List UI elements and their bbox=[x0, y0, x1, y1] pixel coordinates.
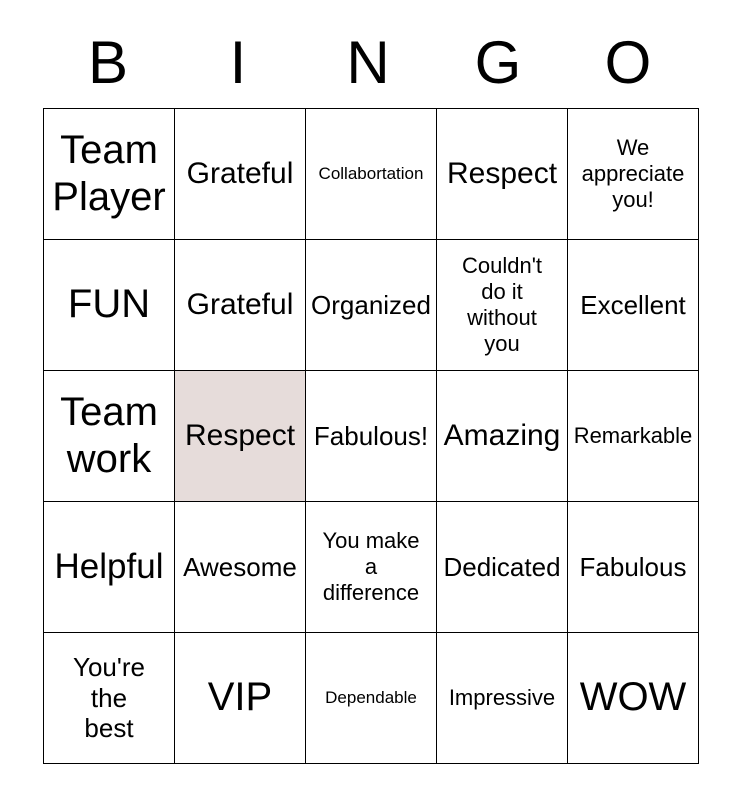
bingo-cell-label: Grateful bbox=[175, 156, 305, 191]
bingo-cell-r5-c3[interactable]: Dependable bbox=[306, 633, 437, 764]
bingo-cell-label: Organized bbox=[306, 290, 436, 321]
bingo-cell-r2-c3[interactable]: Organized bbox=[306, 240, 437, 371]
bingo-cell-r3-c2-marked[interactable]: Respect bbox=[175, 371, 306, 502]
bingo-cell-label: Team Player bbox=[44, 127, 174, 221]
bingo-row: HelpfulAwesomeYou make a differenceDedic… bbox=[44, 502, 699, 633]
bingo-row: Team workRespectFabulous!AmazingRemarkab… bbox=[44, 371, 699, 502]
bingo-cell-label: Respect bbox=[437, 156, 567, 191]
bingo-cell-r5-c2[interactable]: VIP bbox=[175, 633, 306, 764]
bingo-cell-label: Collabortation bbox=[306, 164, 436, 184]
bingo-cell-r5-c4[interactable]: Impressive bbox=[437, 633, 568, 764]
bingo-grid: Team PlayerGratefulCollabortationRespect… bbox=[43, 108, 699, 764]
bingo-cell-label: Grateful bbox=[175, 287, 305, 322]
bingo-cell-r2-c1[interactable]: FUN bbox=[44, 240, 175, 371]
bingo-grid-body: Team PlayerGratefulCollabortationRespect… bbox=[44, 109, 699, 764]
bingo-cell-label: You're the best bbox=[44, 652, 174, 744]
bingo-cell-label: Impressive bbox=[437, 685, 567, 711]
bingo-cell-r4-c3[interactable]: You make a difference bbox=[306, 502, 437, 633]
bingo-cell-label: You make a difference bbox=[306, 528, 436, 606]
bingo-cell-label: Excellent bbox=[568, 290, 698, 321]
bingo-cell-r3-c4[interactable]: Amazing bbox=[437, 371, 568, 502]
bingo-header-row: BINGO bbox=[43, 18, 693, 108]
bingo-cell-r5-c1[interactable]: You're the best bbox=[44, 633, 175, 764]
bingo-cell-r3-c3[interactable]: Fabulous! bbox=[306, 371, 437, 502]
bingo-cell-label: Dedicated bbox=[437, 552, 567, 583]
bingo-cell-label: VIP bbox=[175, 674, 305, 721]
bingo-cell-r1-c1[interactable]: Team Player bbox=[44, 109, 175, 240]
bingo-cell-r4-c4[interactable]: Dedicated bbox=[437, 502, 568, 633]
bingo-cell-r1-c4[interactable]: Respect bbox=[437, 109, 568, 240]
bingo-header-letter-o: O bbox=[563, 18, 693, 108]
bingo-cell-label: Fabulous bbox=[568, 552, 698, 583]
bingo-cell-r4-c5[interactable]: Fabulous bbox=[568, 502, 699, 633]
bingo-header-letter-b: B bbox=[43, 18, 173, 108]
bingo-header-letter-i: I bbox=[173, 18, 303, 108]
bingo-cell-r5-c5[interactable]: WOW bbox=[568, 633, 699, 764]
bingo-cell-r4-c2[interactable]: Awesome bbox=[175, 502, 306, 633]
bingo-cell-r3-c1[interactable]: Team work bbox=[44, 371, 175, 502]
bingo-cell-label: Respect bbox=[175, 418, 305, 453]
bingo-row: You're the bestVIPDependableImpressiveWO… bbox=[44, 633, 699, 764]
bingo-cell-r3-c5[interactable]: Remarkable bbox=[568, 371, 699, 502]
bingo-cell-r4-c1[interactable]: Helpful bbox=[44, 502, 175, 633]
bingo-card: BINGO Team PlayerGratefulCollabortationR… bbox=[43, 18, 693, 764]
bingo-cell-label: FUN bbox=[44, 281, 174, 328]
bingo-cell-r1-c2[interactable]: Grateful bbox=[175, 109, 306, 240]
bingo-cell-label: Helpful bbox=[44, 546, 174, 587]
bingo-cell-label: WOW bbox=[568, 674, 698, 721]
bingo-cell-label: Remarkable bbox=[568, 423, 698, 449]
bingo-cell-label: We appreciate you! bbox=[568, 135, 698, 213]
bingo-cell-label: Couldn't do it without you bbox=[437, 253, 567, 357]
bingo-cell-label: Amazing bbox=[437, 418, 567, 453]
bingo-row: Team PlayerGratefulCollabortationRespect… bbox=[44, 109, 699, 240]
bingo-header-letter-n: N bbox=[303, 18, 433, 108]
bingo-cell-r2-c5[interactable]: Excellent bbox=[568, 240, 699, 371]
bingo-cell-label: Dependable bbox=[306, 688, 436, 708]
bingo-cell-label: Awesome bbox=[175, 552, 305, 583]
bingo-cell-label: Team work bbox=[44, 389, 174, 483]
bingo-cell-r2-c2[interactable]: Grateful bbox=[175, 240, 306, 371]
bingo-cell-r1-c5[interactable]: We appreciate you! bbox=[568, 109, 699, 240]
bingo-row: FUNGratefulOrganizedCouldn't do it witho… bbox=[44, 240, 699, 371]
bingo-cell-r1-c3[interactable]: Collabortation bbox=[306, 109, 437, 240]
bingo-header-letter-g: G bbox=[433, 18, 563, 108]
bingo-cell-r2-c4[interactable]: Couldn't do it without you bbox=[437, 240, 568, 371]
bingo-cell-label: Fabulous! bbox=[306, 421, 436, 452]
